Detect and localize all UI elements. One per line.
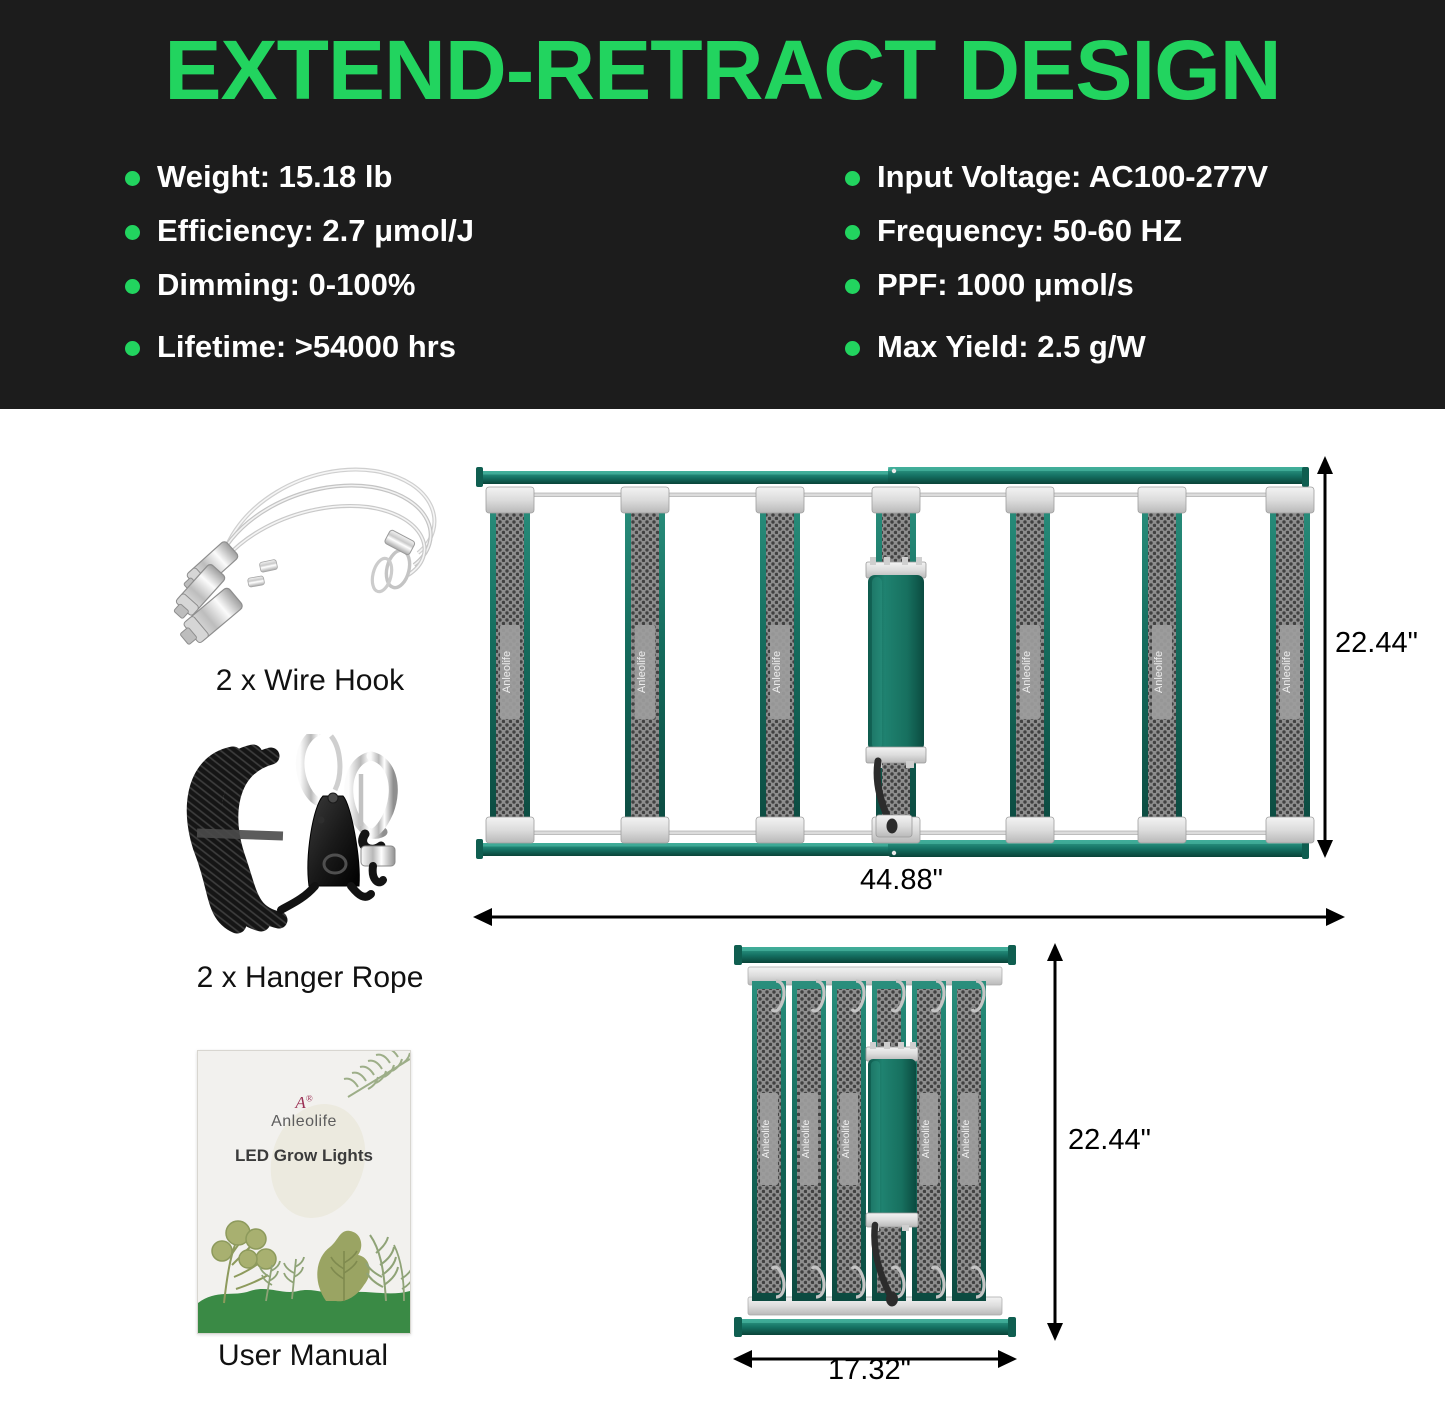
bullet-dot-icon xyxy=(125,279,140,294)
bullet-dot-icon xyxy=(845,279,860,294)
spec-label: Dimming: 0-100% xyxy=(157,267,415,302)
accessory-caption-hanger-rope: 2 x Hanger Rope xyxy=(150,961,470,995)
spec-label: Max Yield: 2.5 g/W xyxy=(877,329,1146,364)
dimension-width-extended-label: 44.88" xyxy=(860,864,943,897)
wire-hook-icon xyxy=(150,449,470,654)
spec-item-frequency: Frequency: 50-60 HZ xyxy=(845,204,1445,258)
svg-text:Anleolife: Anleolife xyxy=(1021,651,1033,693)
spec-item-input-voltage: Input Voltage: AC100-277V xyxy=(845,150,1445,204)
dimension-height-extended-arrow xyxy=(1305,454,1345,874)
spec-item-ppf: PPF: 1000 μmol/s xyxy=(845,258,1445,312)
led-bar: Anleolife xyxy=(621,487,669,843)
extended-view: Anleolife Anleolife Anleolife xyxy=(470,457,1340,877)
bullet-dot-icon xyxy=(125,225,140,240)
svg-text:Anleolife: Anleolife xyxy=(961,1119,972,1158)
dimension-height-retracted-label: 22.44" xyxy=(1068,1124,1151,1157)
led-bar: Anleolife xyxy=(1006,487,1054,843)
spec-label: Lifetime: >54000 hrs xyxy=(157,329,456,364)
spec-column-right: Input Voltage: AC100-277V Frequency: 50-… xyxy=(845,150,1445,374)
spec-item-lifetime: Lifetime: >54000 hrs xyxy=(125,320,825,374)
manual-subtitle: LED Grow Lights xyxy=(198,1146,410,1166)
spec-label: Input Voltage: AC100-277V xyxy=(877,159,1268,194)
led-bar: Anleolife xyxy=(832,981,866,1301)
led-bar: Anleolife xyxy=(756,487,804,843)
led-bar: Anleolife xyxy=(1138,487,1186,843)
user-manual-icon: A® Anleolife LED Grow Lights xyxy=(197,1050,411,1334)
spec-item-efficiency: Efficiency: 2.7 μmol/J xyxy=(125,204,825,258)
dimension-height-extended-label: 22.44" xyxy=(1335,627,1418,660)
led-bar: Anleolife xyxy=(752,981,786,1301)
spec-label: PPF: 1000 μmol/s xyxy=(877,267,1134,302)
header-banner: EXTEND-RETRACT DESIGN Weight: 15.18 lb E… xyxy=(0,0,1445,409)
led-bar: Anleolife xyxy=(792,981,826,1301)
bullet-dot-icon xyxy=(845,171,860,186)
spec-label: Efficiency: 2.7 μmol/J xyxy=(157,213,474,248)
spec-column-left: Weight: 15.18 lb Efficiency: 2.7 μmol/J … xyxy=(125,150,825,374)
led-driver xyxy=(866,557,926,768)
page-title: EXTEND-RETRACT DESIGN xyxy=(0,28,1445,112)
bullet-dot-icon xyxy=(845,341,860,356)
dimension-width-retracted-label: 17.32" xyxy=(828,1354,911,1387)
dimension-width-extended-arrow xyxy=(470,899,1350,935)
svg-text:Anleolife: Anleolife xyxy=(771,651,783,693)
spec-label: Weight: 15.18 lb xyxy=(157,159,392,194)
svg-text:Anleolife: Anleolife xyxy=(501,651,513,693)
manual-brand-mark: A® xyxy=(198,1093,410,1113)
bullet-dot-icon xyxy=(845,225,860,240)
led-driver xyxy=(866,1042,918,1231)
led-bar: Anleolife xyxy=(486,487,534,843)
spec-item-dimming: Dimming: 0-100% xyxy=(125,258,825,312)
svg-text:Anleolife: Anleolife xyxy=(801,1119,812,1158)
spec-item-weight: Weight: 15.18 lb xyxy=(125,150,825,204)
svg-text:Anleolife: Anleolife xyxy=(841,1119,852,1158)
retracted-view: Anleolife Anleolife Anleolife xyxy=(730,941,1020,1351)
svg-text:Anleolife: Anleolife xyxy=(921,1119,932,1158)
hanger-rope-icon xyxy=(175,734,445,944)
svg-text:Anleolife: Anleolife xyxy=(636,651,648,693)
svg-text:Anleolife: Anleolife xyxy=(1281,651,1293,693)
accessory-caption-user-manual: User Manual xyxy=(190,1339,416,1373)
accessory-caption-wire-hook: 2 x Wire Hook xyxy=(150,664,470,698)
manual-brand-name: Anleolife xyxy=(198,1113,410,1131)
spec-item-max-yield: Max Yield: 2.5 g/W xyxy=(845,320,1445,374)
led-bar: Anleolife xyxy=(952,981,986,1301)
bullet-dot-icon xyxy=(125,341,140,356)
product-diagram-area: 2 x Wire Hook xyxy=(0,409,1445,1411)
svg-text:Anleolife: Anleolife xyxy=(761,1119,772,1158)
spec-label: Frequency: 50-60 HZ xyxy=(877,213,1182,248)
svg-text:Anleolife: Anleolife xyxy=(1153,651,1165,693)
bullet-dot-icon xyxy=(125,171,140,186)
led-bar: Anleolife xyxy=(912,981,946,1301)
